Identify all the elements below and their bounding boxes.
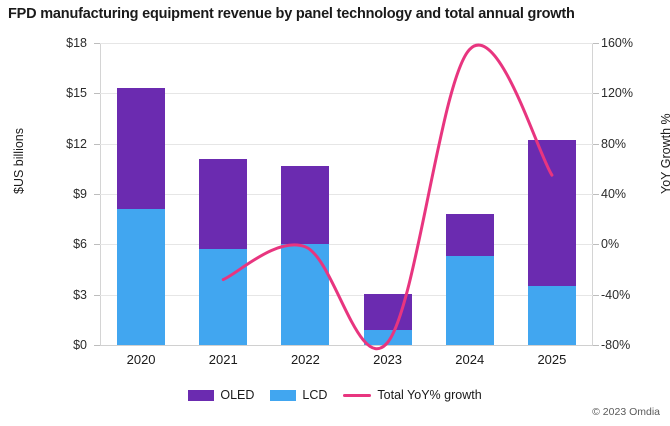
left-axis-tick-label: $9 [27, 187, 87, 201]
right-axis-tick [593, 144, 599, 145]
left-axis-tick-label: $12 [27, 137, 87, 151]
legend-item-label: Total YoY% growth [377, 388, 481, 402]
left-axis-tick-label: $6 [27, 237, 87, 251]
left-axis-tick-label: $0 [27, 338, 87, 352]
legend-item[interactable]: Total YoY% growth [343, 388, 481, 402]
right-axis-tick [593, 244, 599, 245]
right-axis-tick [593, 93, 599, 94]
right-axis-tick [593, 295, 599, 296]
right-axis-tick-label: 80% [601, 137, 661, 151]
right-axis-tick-label: 160% [601, 36, 661, 50]
right-axis-tick-label: 0% [601, 237, 661, 251]
legend-swatch-icon [188, 390, 214, 401]
legend-line-icon [343, 394, 371, 397]
plot-area [100, 43, 593, 345]
legend-item[interactable]: LCD [270, 388, 327, 402]
legend-swatch-icon [270, 390, 296, 401]
right-axis-tick-label: 40% [601, 187, 661, 201]
right-axis-tick-label: -40% [601, 288, 661, 302]
gridline [100, 345, 593, 346]
legend-item[interactable]: OLED [188, 388, 254, 402]
left-axis-tick-label: $15 [27, 86, 87, 100]
legend: OLEDLCDTotal YoY% growth [0, 388, 670, 402]
growth-line-path [223, 45, 552, 349]
x-axis-tick-label: 2022 [260, 352, 350, 367]
chart-title: FPD manufacturing equipment revenue by p… [8, 6, 575, 22]
right-axis-tick [593, 194, 599, 195]
right-axis-tick [593, 43, 599, 44]
x-axis-tick-label: 2025 [507, 352, 597, 367]
x-axis-tick-label: 2024 [425, 352, 515, 367]
growth-line-series [100, 43, 593, 345]
right-axis-tick [593, 345, 599, 346]
left-axis-tick-label: $18 [27, 36, 87, 50]
x-axis-tick-label: 2023 [343, 352, 433, 367]
legend-item-label: OLED [220, 388, 254, 402]
x-axis-tick-label: 2021 [178, 352, 268, 367]
x-axis-tick-label: 2020 [96, 352, 186, 367]
right-axis-tick-label: 120% [601, 86, 661, 100]
right-axis-tick-label: -80% [601, 338, 661, 352]
legend-item-label: LCD [302, 388, 327, 402]
left-axis-tick-label: $3 [27, 288, 87, 302]
left-axis-tick [94, 345, 100, 346]
left-axis-title: $US billions [12, 128, 26, 194]
copyright-notice: © 2023 Omdia [592, 406, 660, 418]
right-axis-title: YoY Growth % [659, 113, 670, 194]
